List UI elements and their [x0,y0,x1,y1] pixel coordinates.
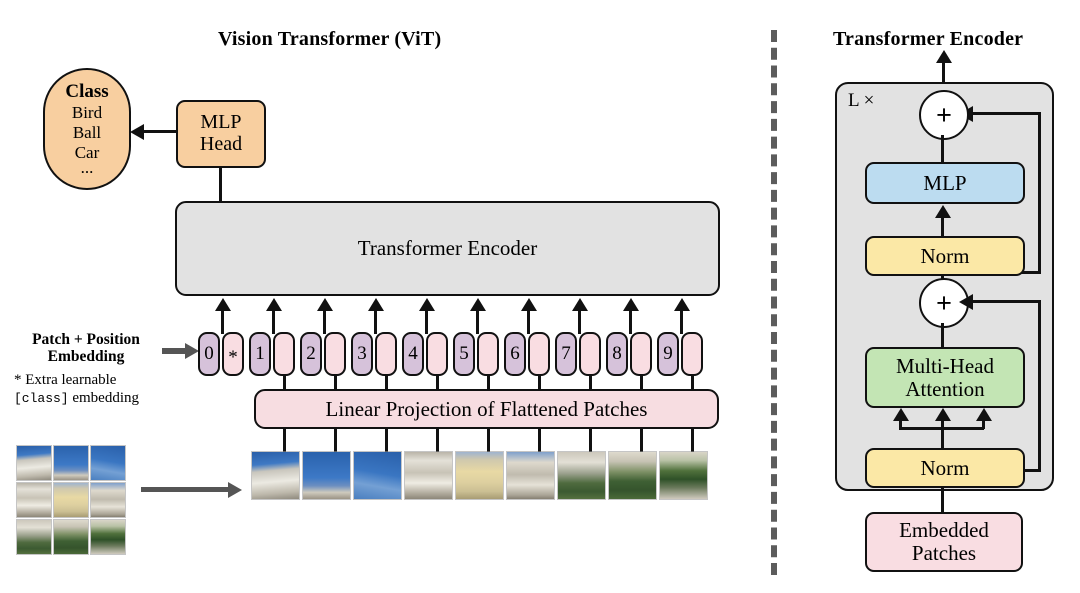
image-patch-r0-c2 [91,446,125,480]
token-1-position-embedding: 1 [249,332,271,376]
mha-line1: Multi-Head [896,355,994,378]
projection-to-patch-4-line [436,428,439,454]
projection-to-patch-7-line [589,428,592,454]
class-ellipsis: ... [45,163,129,173]
embedded-patches-line1: Embedded [899,519,989,542]
token-0-label: 0 [204,344,214,365]
gray-arrow-to-strip-head [228,482,242,498]
flattened-patch-7 [558,452,605,499]
flattened-patch-5 [456,452,503,499]
gray-arrow-to-tokens-head [185,343,199,359]
mlp-block: MLP [865,162,1025,204]
embedded-patches-block: Embedded Patches [865,512,1023,572]
footnote-code: [class] [14,391,69,406]
class-heading: Class [45,81,129,103]
class-pill: Class Bird Ball Car ... [43,68,131,190]
projection-to-patch-6-line [538,428,541,454]
footnote-text1: Extra learnable [25,372,116,388]
token-7-to-projection-line [589,376,592,391]
residual-top-v [1038,112,1041,274]
token-4-position-embedding: 4 [402,332,424,376]
token-6-patch-embedding [528,332,550,376]
token-1-patch-embedding [273,332,295,376]
mha-input-stem-mid [941,420,944,450]
token-0-to-encoder-arrow [215,298,231,311]
transformer-encoder-box: Transformer Encoder [175,201,720,296]
mlp-block-label: MLP [923,172,966,195]
token-3-to-projection-line [385,376,388,391]
image-patch-r2-c1 [54,520,88,554]
token-3-patch-embedding [375,332,397,376]
mha-input-stem-left [899,420,902,429]
token-3-to-encoder-line [374,310,377,334]
token-9-label: 9 [663,344,673,365]
residual-bottom-h-top [972,300,1041,303]
projection-to-patch-1-line [283,428,286,454]
flattened-patch-8 [609,452,656,499]
flattened-patch-1 [252,452,299,499]
arrow-mlp-to-class-line [144,130,176,133]
add-bottom-symbol: + [936,290,952,317]
image-patch-r2-c0 [17,520,51,554]
norm-top-block: Norm [865,236,1025,276]
arrow-mlp-to-class-head [130,124,144,140]
token-1-to-encoder-arrow [266,298,282,311]
class-embedding-footnote: * Extra learnable [class] embedding [14,371,194,407]
token-5-to-encoder-line [476,310,479,334]
connector-embedded-norm [941,486,944,514]
residual-bottom-arrow [959,294,973,310]
token-8-to-projection-line [640,376,643,391]
mha-input-arrow-right [976,408,992,421]
token-5-to-projection-line [487,376,490,391]
embedding-caption-line2: Embedding [12,348,160,365]
token-2-position-embedding: 2 [300,332,322,376]
mha-line2: Attention [896,378,994,401]
projection-to-patch-9-line [691,428,694,454]
footnote-text2: embedding [72,390,139,406]
token-9-to-projection-line [691,376,694,391]
encoder-output-arrow [936,50,952,63]
token-0-position-embedding: 0 [198,332,220,376]
token-5-to-encoder-arrow [470,298,486,311]
residual-bottom-v [1038,300,1041,472]
mlp-head-line1: MLP [200,112,242,134]
token-9-to-encoder-line [680,310,683,334]
token-7-patch-embedding [579,332,601,376]
linear-projection-box: Linear Projection of Flattened Patches [254,389,719,429]
token-3-to-encoder-arrow [368,298,384,311]
class-item-bird: Bird [45,103,129,123]
image-patch-r0-c0 [17,446,51,480]
mha-input-arrow-mid [935,408,951,421]
token-8-position-embedding: 8 [606,332,628,376]
image-patch-r2-c2 [91,520,125,554]
projection-to-patch-2-line [334,428,337,454]
token-6-label: 6 [510,344,520,365]
token-1-to-projection-line [283,376,286,391]
gray-arrow-to-tokens-line [162,348,186,354]
mha-input-stem-right [982,420,985,429]
connector-mlphead-encoder [219,167,222,202]
token-2-label: 2 [306,344,316,365]
token-3-label: 3 [357,344,367,365]
token-2-to-projection-line [334,376,337,391]
projection-to-patch-5-line [487,428,490,454]
multi-head-attention-block: Multi-Head Attention [865,347,1025,408]
flattened-patch-6 [507,452,554,499]
token-6-to-encoder-arrow [521,298,537,311]
token-7-to-encoder-line [578,310,581,334]
gray-arrow-to-strip-line [141,487,229,492]
token-3-position-embedding: 3 [351,332,373,376]
source-image-patch-grid [17,446,127,556]
token-4-to-encoder-arrow [419,298,435,311]
token-6-position-embedding: 6 [504,332,526,376]
image-patch-r1-c0 [17,483,51,517]
token-9-to-encoder-arrow [674,298,690,311]
image-patch-r1-c2 [91,483,125,517]
token-7-label: 7 [561,344,571,365]
right-panel-title: Transformer Encoder [833,28,1023,51]
token-8-label: 8 [612,344,622,365]
embedded-patches-line2: Patches [899,542,989,565]
image-patch-r0-c1 [54,446,88,480]
connector-addtop-mlp [941,135,944,163]
footnote-star: * [14,372,22,388]
token-6-to-encoder-line [527,310,530,334]
token-7-to-encoder-arrow [572,298,588,311]
token-7-position-embedding: 7 [555,332,577,376]
connector-addbottom-mha [941,323,944,348]
mha-input-arrow-left [893,408,909,421]
image-patch-r1-c1 [54,483,88,517]
class-item-ball: Ball [45,123,129,143]
left-panel-title: Vision Transformer (ViT) [218,28,441,51]
token-4-to-encoder-line [425,310,428,334]
linear-projection-label: Linear Projection of Flattened Patches [326,398,648,421]
token-8-to-encoder-line [629,310,632,334]
token-2-to-encoder-arrow [317,298,333,311]
projection-to-patch-3-line [385,428,388,454]
norm-bottom-label: Norm [921,457,970,480]
flattened-patch-4 [405,452,452,499]
mlp-head-line2: Head [200,134,242,156]
token-6-to-projection-line [538,376,541,391]
token-1-to-encoder-line [272,310,275,334]
embedding-caption-line1: Patch + Position [12,331,160,348]
token-9-patch-embedding [681,332,703,376]
repeat-label: L × [848,90,874,112]
projection-to-patch-8-line [640,428,643,454]
flattened-patch-2 [303,452,350,499]
flattened-patch-9 [660,452,707,499]
token-5-patch-embedding [477,332,499,376]
flattened-patch-3 [354,452,401,499]
connector-normtop-mlp-line [941,217,944,237]
class-token-asterisk: * [228,348,238,367]
token-4-patch-embedding [426,332,448,376]
token-5-position-embedding: 5 [453,332,475,376]
token-1-label: 1 [255,344,265,365]
mlp-head-box: MLP Head [176,100,266,168]
transformer-encoder-label: Transformer Encoder [358,237,537,260]
token-2-patch-embedding [324,332,346,376]
panel-divider [771,30,777,575]
residual-top-h-top [972,112,1041,115]
token-4-label: 4 [408,344,418,365]
connector-normtop-mlp-arrow [935,205,951,218]
token-2-to-encoder-line [323,310,326,334]
token-9-position-embedding: 9 [657,332,679,376]
add-top: + [919,90,969,140]
token-4-to-projection-line [436,376,439,391]
norm-top-label: Norm [921,245,970,268]
patch-position-embedding-caption: Patch + Position Embedding [12,331,160,366]
token-0-to-encoder-line [221,310,224,334]
token-0-class-embedding: * [222,332,244,376]
add-top-symbol: + [936,102,952,129]
norm-bottom-block: Norm [865,448,1025,488]
token-8-patch-embedding [630,332,652,376]
token-5-label: 5 [459,344,469,365]
token-8-to-encoder-arrow [623,298,639,311]
